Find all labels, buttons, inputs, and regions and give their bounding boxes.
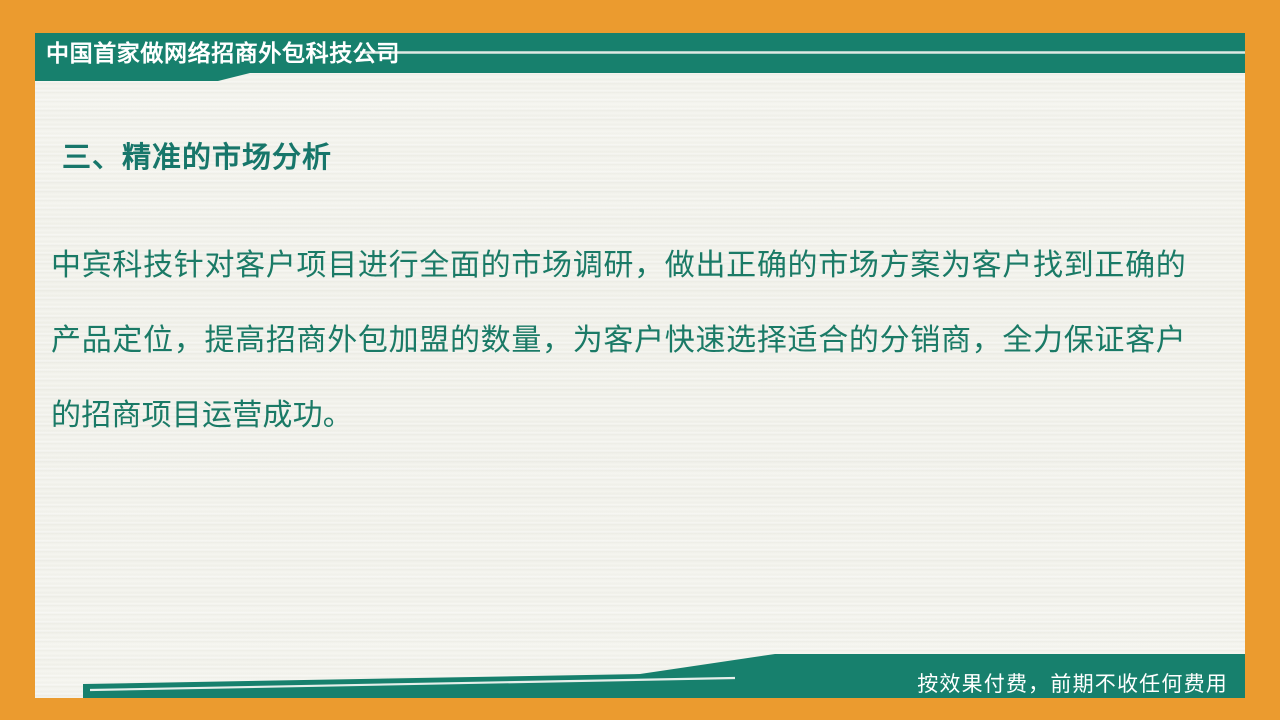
slide-canvas: 中国首家做网络招商外包科技公司 三、精准的市场分析 中宾科技针对客户项目进行全面… <box>0 0 1280 720</box>
right-orange-border-top <box>1245 0 1280 110</box>
right-orange-border-bottom <box>1245 610 1280 720</box>
left-orange-border-bottom <box>0 610 35 720</box>
section-heading: 三、精准的市场分析 <box>62 134 332 176</box>
left-orange-border-top <box>0 0 35 110</box>
body-paragraph-text: 中宾科技针对客户项目进行全面的市场调研，做出正确的市场方案为客户找到正确的产品定… <box>51 228 1186 453</box>
body-paragraph: 中宾科技针对客户项目进行全面的市场调研，做出正确的市场方案为客户找到正确的产品定… <box>51 228 1186 453</box>
